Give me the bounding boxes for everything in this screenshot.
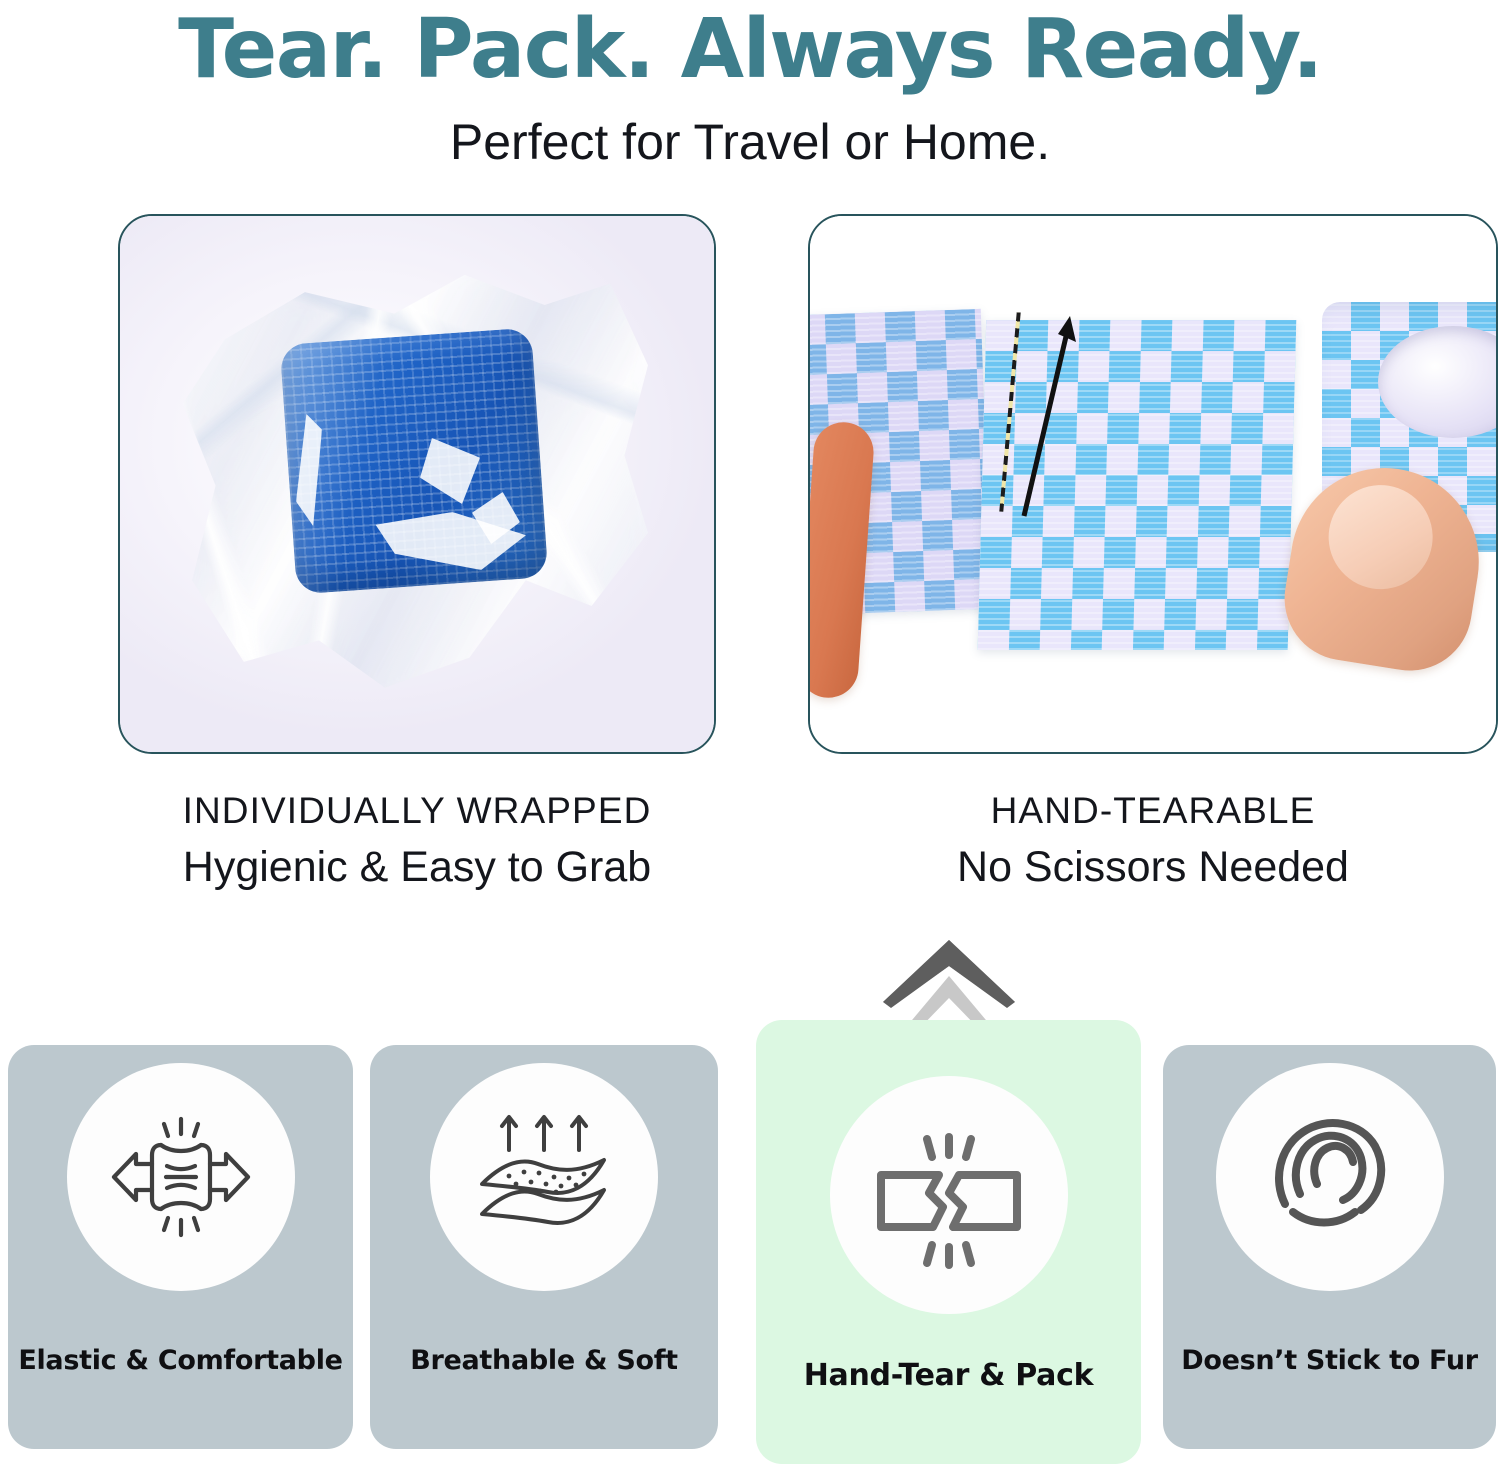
stretch-arrows-icon bbox=[106, 1102, 256, 1252]
page-title: Tear. Pack. Always Ready. bbox=[0, 4, 1500, 96]
tear-direction-arrow-icon bbox=[1016, 312, 1084, 522]
feature-label: Hand-Tear & Pack bbox=[756, 1358, 1141, 1393]
feature-card-hand-tear-pack[interactable]: Hand-Tear & Pack bbox=[756, 1020, 1141, 1464]
fur-swirl-icon bbox=[1255, 1102, 1405, 1252]
feature-label: Doesn’t Stick to Fur bbox=[1163, 1345, 1496, 1376]
breathable-fabric-icon bbox=[464, 1102, 624, 1252]
photo-row bbox=[0, 214, 1500, 759]
photo-hand-tearable[interactable] bbox=[808, 214, 1498, 754]
caption-row: INDIVIDUALLY WRAPPED Hygienic & Easy to … bbox=[0, 787, 1500, 917]
headline-block: Tear. Pack. Always Ready. Perfect for Tr… bbox=[0, 0, 1500, 172]
caption-hand-tearable: HAND-TEARABLE No Scissors Needed bbox=[808, 787, 1498, 895]
icon-circle bbox=[67, 1063, 295, 1291]
icon-circle bbox=[430, 1063, 658, 1291]
thumbnail bbox=[1321, 478, 1440, 597]
tear-tape-icon bbox=[869, 1115, 1029, 1275]
caption-title: INDIVIDUALLY WRAPPED bbox=[118, 787, 716, 835]
feature-card-doesnt-stick-to-fur[interactable]: Doesn’t Stick to Fur bbox=[1163, 1045, 1496, 1449]
icon-circle bbox=[1216, 1063, 1444, 1291]
icon-circle bbox=[830, 1076, 1068, 1314]
feature-label: Elastic & Comfortable bbox=[8, 1345, 353, 1376]
caption-subtitle: No Scissors Needed bbox=[808, 839, 1498, 895]
page-subtitle: Perfect for Travel or Home. bbox=[0, 112, 1500, 172]
feature-label: Breathable & Soft bbox=[370, 1345, 718, 1376]
caption-title: HAND-TEARABLE bbox=[808, 787, 1498, 835]
caption-individually-wrapped: INDIVIDUALLY WRAPPED Hygienic & Easy to … bbox=[118, 787, 716, 895]
caption-subtitle: Hygienic & Easy to Grab bbox=[118, 839, 716, 895]
photo-individually-wrapped[interactable] bbox=[118, 214, 716, 754]
feature-card-breathable-soft[interactable]: Breathable & Soft bbox=[370, 1045, 718, 1449]
feature-card-elastic-comfortable[interactable]: Elastic & Comfortable bbox=[8, 1045, 353, 1449]
tape-roll-core bbox=[1378, 326, 1498, 438]
